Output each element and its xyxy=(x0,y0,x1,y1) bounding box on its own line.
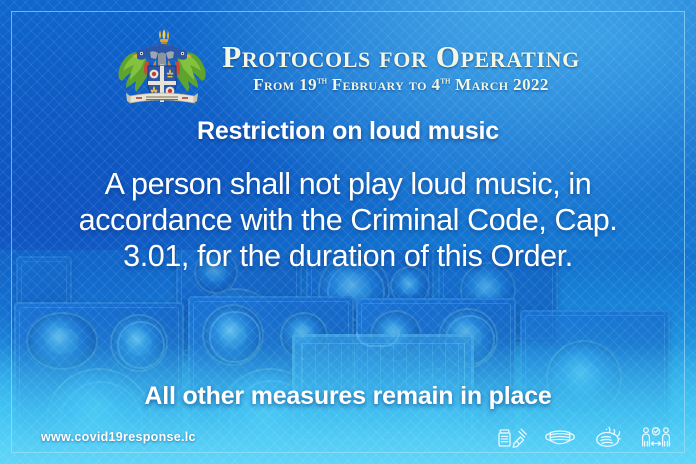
website-url: www.covid19response.lc xyxy=(41,430,196,444)
subtitle-from: From 19 xyxy=(253,75,317,94)
vaccine-icon xyxy=(497,425,527,449)
header-titles: Protocols for Operating From 19th Februa… xyxy=(222,41,580,96)
hand-washing-icon xyxy=(593,425,623,449)
poster-content: Protocols for Operating From 19th Februa… xyxy=(0,0,696,464)
subtitle-middle: February to 4 xyxy=(327,75,440,94)
social-distancing-icon xyxy=(640,425,672,449)
face-mask-icon xyxy=(544,425,576,449)
protocols-poster: Protocols for Operating From 19th Februa… xyxy=(0,0,696,464)
page-title: Protocols for Operating xyxy=(222,41,580,73)
poster-header: Protocols for Operating From 19th Februa… xyxy=(0,26,696,110)
saint-lucia-coat-of-arms-icon xyxy=(116,26,208,110)
restriction-headline: Restriction on loud music xyxy=(0,117,696,146)
page-subtitle: From 19th February to 4th March 2022 xyxy=(222,75,580,95)
subtitle-ordinal-second: th xyxy=(440,76,450,87)
subtitle-end: March 2022 xyxy=(451,75,549,94)
protocol-icons xyxy=(497,425,672,449)
measures-footline: All other measures remain in place xyxy=(0,382,696,411)
subtitle-ordinal-first: th xyxy=(317,76,327,87)
restriction-body-text: A person shall not play loud music, in a… xyxy=(48,167,648,274)
